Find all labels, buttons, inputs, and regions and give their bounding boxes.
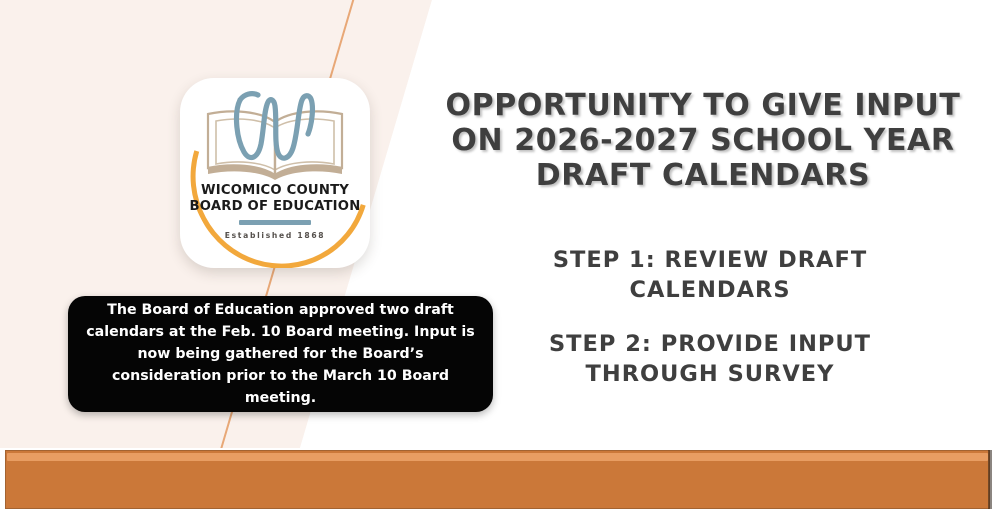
- page-title-line3: DRAFT CALENDARS: [408, 158, 998, 193]
- logo-wordmark: WICOMICO COUNTY BOARD OF EDUCATION: [180, 183, 370, 215]
- logo-established-text: Established 1868: [180, 231, 370, 240]
- step-1-line2: CALENDARS: [470, 275, 950, 305]
- step-2-line1: STEP 2: PROVIDE INPUT: [470, 329, 950, 359]
- page-title: OPPORTUNITY TO GIVE INPUT ON 2026-2027 S…: [408, 88, 998, 193]
- logo-wordmark-line1: WICOMICO COUNTY: [180, 183, 370, 199]
- callout-box: The Board of Education approved two draf…: [68, 296, 493, 412]
- step-2: STEP 2: PROVIDE INPUT THROUGH SURVEY: [470, 329, 950, 389]
- script-w-icon: [230, 90, 320, 172]
- logo-card: WICOMICO COUNTY BOARD OF EDUCATION Estab…: [180, 78, 370, 268]
- bottom-accent-bar-right-edge: [988, 450, 992, 509]
- page-title-line1: OPPORTUNITY TO GIVE INPUT: [408, 88, 998, 123]
- step-1: STEP 1: REVIEW DRAFT CALENDARS: [470, 245, 950, 305]
- step-2-line2: THROUGH SURVEY: [470, 359, 950, 389]
- logo-wordmark-line2: BOARD OF EDUCATION: [180, 199, 370, 215]
- callout-text: The Board of Education approved two draf…: [68, 299, 493, 409]
- page-title-line2: ON 2026-2027 SCHOOL YEAR: [408, 123, 998, 158]
- steps-list: STEP 1: REVIEW DRAFT CALENDARS STEP 2: P…: [470, 245, 950, 389]
- bottom-accent-bar-highlight: [7, 453, 988, 461]
- logo-divider-rule: [239, 220, 311, 225]
- announcement-graphic: WICOMICO COUNTY BOARD OF EDUCATION Estab…: [0, 0, 1000, 509]
- step-1-line1: STEP 1: REVIEW DRAFT: [470, 245, 950, 275]
